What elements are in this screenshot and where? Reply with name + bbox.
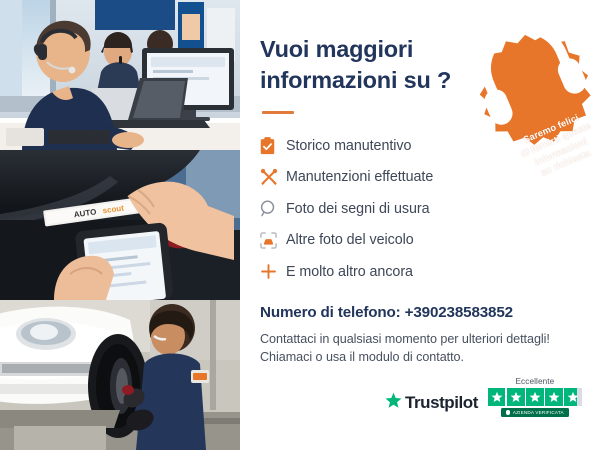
promo-banner: AUTO scout xyxy=(0,0,600,450)
check-circle-icon xyxy=(506,410,510,414)
list-item: Altre foto del veicolo xyxy=(260,227,510,253)
feature-list: Storico manutentivo Manutenzi xyxy=(260,133,510,285)
list-item: E molto altro ancora xyxy=(260,259,510,285)
list-item: Storico manutentivo xyxy=(260,133,510,159)
list-item-label: Foto dei segni di usura xyxy=(286,201,430,217)
star-filled-4 xyxy=(545,388,563,406)
list-item-label: E molto altro ancora xyxy=(286,264,413,280)
star-filled-2 xyxy=(507,388,525,406)
trustpilot-rating-label: Eccellente xyxy=(516,377,555,386)
list-item-label: Altre foto del veicolo xyxy=(286,232,414,248)
contact-note-line1: Contattaci in qualsiasi momento per ulte… xyxy=(260,332,550,346)
car-scan-frame-icon xyxy=(260,229,286,251)
call-center-agent-photo xyxy=(0,0,240,150)
trustpilot-logo: Trustpilot xyxy=(385,392,478,417)
page-title: Vuoi maggiori informazioni su ? xyxy=(260,34,470,96)
star-partial-5 xyxy=(564,388,582,406)
contact-note-line2: Chiamaci o usa il modulo di contatto. xyxy=(260,350,464,364)
trustpilot-rating[interactable]: Trustpilot Eccellente xyxy=(385,377,582,417)
trustpilot-stars xyxy=(488,388,582,406)
tools-cross-icon xyxy=(260,166,286,188)
page-title-line1: Vuoi maggiori xyxy=(260,36,413,62)
verified-company-badge: AZIENDA VERIFICATA xyxy=(501,408,569,417)
trustpilot-wordmark: Trustpilot xyxy=(405,393,478,413)
photo-column: AUTO scout xyxy=(0,0,240,450)
list-item-label: Manutenzioni effettuate xyxy=(286,169,433,185)
list-item-label: Storico manutentivo xyxy=(286,138,411,154)
trustpilot-star-icon xyxy=(385,392,402,414)
contact-note: Contattaci in qualsiasi momento per ulte… xyxy=(260,330,586,366)
list-item: Manutenzioni effettuate xyxy=(260,164,510,190)
star-filled-1 xyxy=(488,388,506,406)
request-info-badge: Saremo felici di fornirti queste informa… xyxy=(467,23,600,160)
clipboard-check-icon xyxy=(260,135,286,157)
plus-icon xyxy=(260,261,286,283)
verified-company-label: AZIENDA VERIFICATA xyxy=(513,410,564,415)
magnifier-icon xyxy=(260,198,286,220)
trustpilot-score: Eccellente xyxy=(488,377,582,417)
mechanic-wheel-inspection-photo xyxy=(0,300,240,450)
phone-number[interactable]: Numero di telefono: +390238583852 xyxy=(260,304,586,321)
list-item: Foto dei segni di usura xyxy=(260,196,510,222)
title-divider xyxy=(262,111,294,114)
page-title-line2: informazioni su ? xyxy=(260,67,451,93)
star-filled-3 xyxy=(526,388,544,406)
vehicle-inspection-tablet-photo: AUTO scout xyxy=(0,150,240,300)
content-panel: Vuoi maggiori informazioni su ? Saremo f… xyxy=(240,0,600,450)
